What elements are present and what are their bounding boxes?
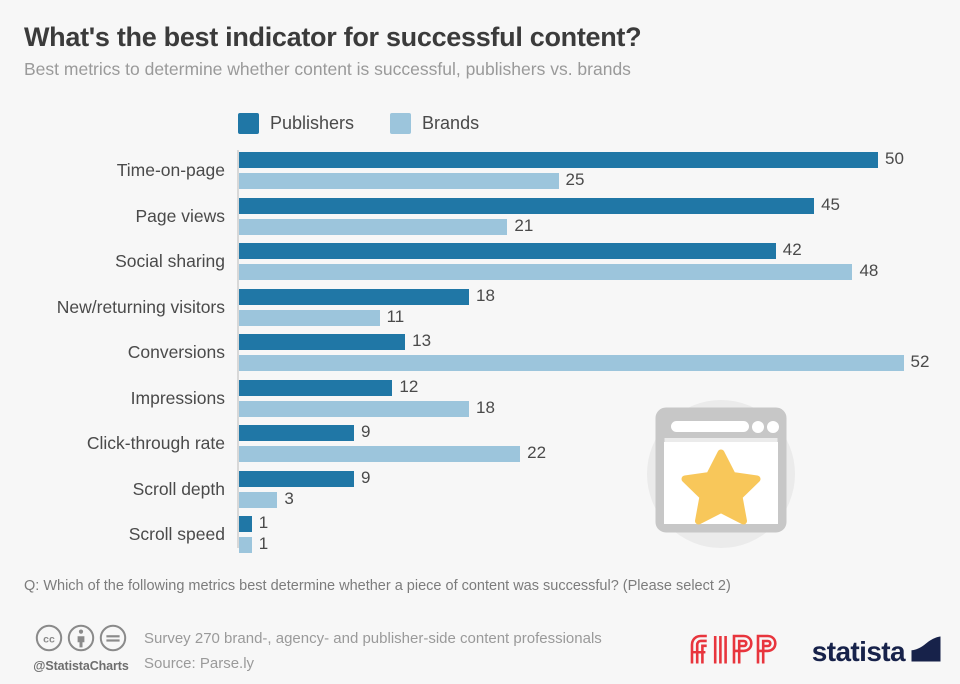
category-label: Click-through rate: [0, 433, 225, 454]
statista-wordmark: statista: [812, 638, 905, 666]
bar-publishers[interactable]: [239, 516, 252, 532]
attribution-icon: [67, 624, 95, 657]
chart-legend: Publishers Brands: [238, 108, 658, 138]
source-attribution: Source: Parse.ly: [144, 651, 602, 676]
bar-row-brands: 3: [239, 492, 959, 508]
bar-row-brands: 48: [239, 264, 959, 280]
bar-publishers[interactable]: [239, 152, 878, 168]
bar-publishers[interactable]: [239, 198, 814, 214]
statista-infographic: What's the best indicator for successful…: [0, 0, 960, 684]
bar-group: 1352: [239, 334, 959, 376]
cc-icon-group: cc: [22, 624, 140, 657]
category-label: Scroll depth: [0, 479, 225, 500]
bar-row-brands: 22: [239, 446, 959, 462]
bar-row-publishers: 50: [239, 152, 959, 168]
legend-item-brands[interactable]: Brands: [390, 113, 479, 134]
bar-publishers[interactable]: [239, 471, 354, 487]
chart-row: Conversions1352: [0, 330, 960, 376]
bar-value-label: 21: [514, 216, 533, 236]
bar-value-label: 48: [859, 261, 878, 281]
bar-group: 11: [239, 516, 959, 558]
bar-row-brands: 1: [239, 537, 959, 553]
chart-rows: Time-on-page5025Page views4521Social sha…: [0, 148, 960, 558]
category-label: Social sharing: [0, 251, 225, 272]
chart-row: Impressions1218: [0, 376, 960, 422]
legend-swatch-brands-icon: [390, 113, 411, 134]
category-label: Scroll speed: [0, 524, 225, 545]
survey-question: Q: Which of the following metrics best d…: [24, 578, 731, 594]
chart-row: Time-on-page5025: [0, 148, 960, 194]
bar-group: 93: [239, 471, 959, 513]
bar-value-label: 18: [476, 286, 495, 306]
creative-commons-block: cc @Stati: [22, 624, 140, 673]
statista-logo[interactable]: statista: [812, 635, 942, 668]
bar-brands[interactable]: [239, 446, 520, 462]
bar-value-label: 12: [399, 377, 418, 397]
bar-group: 4248: [239, 243, 959, 285]
svg-text:cc: cc: [43, 633, 55, 645]
bar-row-brands: 52: [239, 355, 959, 371]
bar-brands[interactable]: [239, 310, 380, 326]
logo-group: statista: [688, 632, 942, 671]
category-label: Page views: [0, 206, 225, 227]
bar-value-label: 13: [412, 331, 431, 351]
bar-value-label: 52: [911, 352, 930, 372]
source-block: Survey 270 brand-, agency- and publisher…: [144, 626, 602, 676]
bar-group: 1811: [239, 289, 959, 331]
header: What's the best indicator for successful…: [24, 20, 936, 81]
bar-row-publishers: 13: [239, 334, 959, 350]
bar-group: 1218: [239, 380, 959, 422]
bar-group: 5025: [239, 152, 959, 194]
bar-value-label: 9: [361, 422, 370, 442]
legend-swatch-publishers-icon: [238, 113, 259, 134]
chart-row: Scroll speed11: [0, 512, 960, 558]
bar-brands[interactable]: [239, 401, 469, 417]
bar-publishers[interactable]: [239, 334, 405, 350]
bar-row-publishers: 9: [239, 425, 959, 441]
fipp-logo[interactable]: [688, 632, 786, 671]
page-subtitle: Best metrics to determine whether conten…: [24, 57, 936, 81]
chart-row: Page views4521: [0, 194, 960, 240]
footer: cc @Stati: [0, 614, 960, 684]
bar-row-publishers: 18: [239, 289, 959, 305]
bar-publishers[interactable]: [239, 289, 469, 305]
chart-row: Scroll depth93: [0, 467, 960, 513]
bar-row-brands: 18: [239, 401, 959, 417]
category-label: Conversions: [0, 342, 225, 363]
bar-publishers[interactable]: [239, 425, 354, 441]
legend-item-publishers[interactable]: Publishers: [238, 113, 354, 134]
category-label: New/returning visitors: [0, 297, 225, 318]
bar-value-label: 1: [259, 513, 268, 533]
page-title: What's the best indicator for successful…: [24, 20, 936, 54]
bar-value-label: 45: [821, 195, 840, 215]
bar-group: 4521: [239, 198, 959, 240]
statista-swoosh-icon: [910, 635, 942, 668]
no-derivatives-icon: [99, 624, 127, 657]
bar-value-label: 22: [527, 443, 546, 463]
bar-brands[interactable]: [239, 219, 507, 235]
bar-row-publishers: 42: [239, 243, 959, 259]
bar-row-brands: 21: [239, 219, 959, 235]
chart-row: New/returning visitors1811: [0, 285, 960, 331]
bar-row-publishers: 45: [239, 198, 959, 214]
chart-row: Click-through rate922: [0, 421, 960, 467]
bar-brands[interactable]: [239, 264, 852, 280]
creative-commons-icon: cc: [35, 624, 63, 657]
bar-value-label: 50: [885, 149, 904, 169]
bar-value-label: 9: [361, 468, 370, 488]
bar-value-label: 11: [387, 307, 405, 327]
bar-brands[interactable]: [239, 537, 252, 553]
bar-row-publishers: 12: [239, 380, 959, 396]
bar-value-label: 25: [566, 170, 585, 190]
legend-label-publishers: Publishers: [270, 113, 354, 134]
bar-row-publishers: 1: [239, 516, 959, 532]
statista-charts-handle: @StatistaCharts: [22, 659, 140, 673]
bar-value-label: 42: [783, 240, 802, 260]
bar-row-brands: 25: [239, 173, 959, 189]
bar-row-brands: 11: [239, 310, 959, 326]
bar-brands[interactable]: [239, 492, 277, 508]
bar-brands[interactable]: [239, 173, 559, 189]
survey-description: Survey 270 brand-, agency- and publisher…: [144, 626, 602, 651]
bar-publishers[interactable]: [239, 243, 776, 259]
bar-row-publishers: 9: [239, 471, 959, 487]
bar-publishers[interactable]: [239, 380, 392, 396]
legend-label-brands: Brands: [422, 113, 479, 134]
bar-value-label: 3: [284, 489, 293, 509]
category-label: Time-on-page: [0, 160, 225, 181]
category-label: Impressions: [0, 388, 225, 409]
bar-chart: Time-on-page5025Page views4521Social sha…: [0, 148, 960, 560]
bar-value-label: 18: [476, 398, 495, 418]
chart-row: Social sharing4248: [0, 239, 960, 285]
bar-value-label: 1: [259, 534, 268, 554]
bar-group: 922: [239, 425, 959, 467]
bar-brands[interactable]: [239, 355, 904, 371]
